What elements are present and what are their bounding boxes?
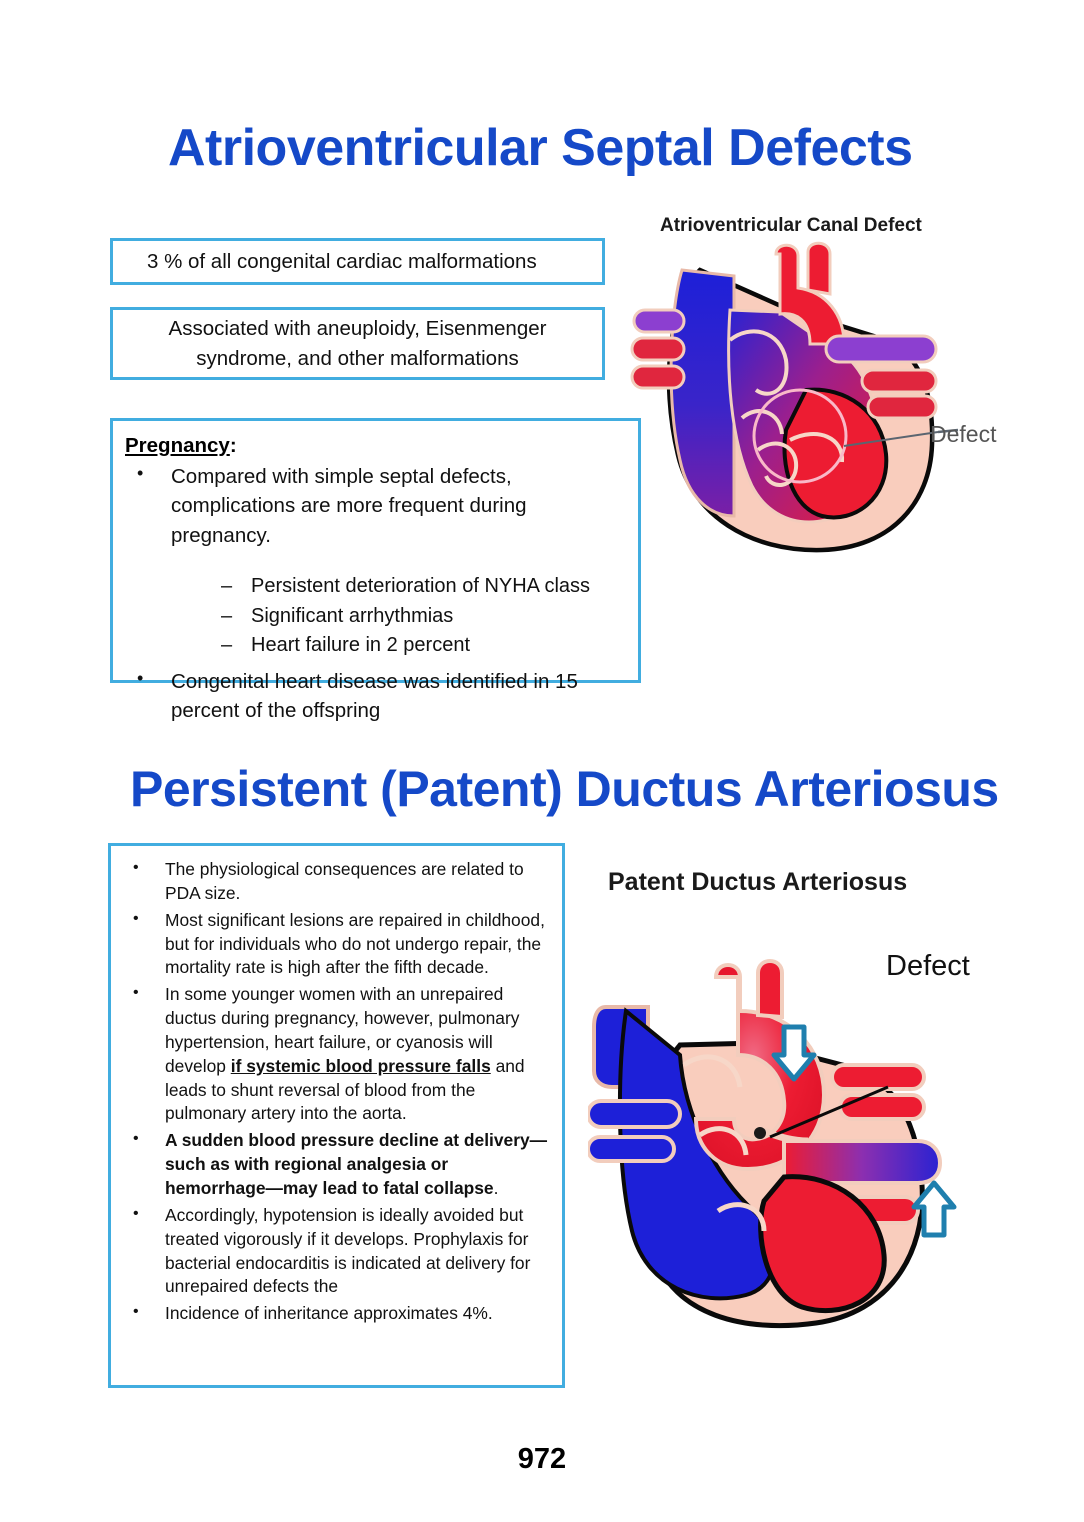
callout-box-pda: The physiological consequences are relat… [108, 843, 565, 1388]
brachiocephalic-trunk [758, 961, 782, 1017]
list-item: Significant arrhythmias [171, 602, 622, 632]
pda-bullet-4-text: A sudden blood pressure decline at deliv… [165, 1130, 547, 1198]
figure-label-avsd-defect: Defect [930, 421, 996, 448]
vessel-stubs-left [632, 310, 684, 388]
pda-bullet-5-text: Accordingly, hypotension is ideally avoi… [165, 1205, 530, 1297]
list-item: A sudden blood pressure decline at deliv… [119, 1129, 550, 1201]
list-item: Accordingly, hypotension is ideally avoi… [119, 1204, 550, 1299]
pregnancy-heading: Pregnancy: [125, 431, 622, 460]
list-item: Heart failure in 2 percent [171, 631, 622, 661]
callout-statistic-text: 3 % of all congenital cardiac malformati… [147, 247, 537, 276]
figure-caption-pda: Patent Ductus Arteriosus [608, 868, 907, 897]
pda-bullet-2-text: Most significant lesions are repaired in… [165, 910, 545, 978]
pregnancy-sub-bullet-2: Significant arrhythmias [251, 605, 453, 627]
pda-bullet-6-text: Incidence of inheritance approximates 4%… [165, 1303, 493, 1323]
figure-label-pda-defect: Defect [886, 950, 970, 983]
list-item: Compared with simple septal defects, com… [125, 462, 622, 661]
list-item: Congenital heart disease was identified … [125, 667, 622, 726]
heart-diagram-avsd [630, 240, 960, 570]
callout-association-line1: Associated with aneuploidy, Eisenmenger [169, 314, 547, 343]
page-title-pda: Persistent (Patent) Ductus Arteriosus [130, 760, 999, 818]
callout-association-line2: syndrome, and other malformations [196, 344, 518, 373]
pregnancy-bullet-list: Compared with simple septal defects, com… [125, 462, 622, 725]
list-item: Most significant lesions are repaired in… [119, 909, 550, 981]
pda-bullet-3-text: In some younger women with an unrepaired… [165, 984, 525, 1123]
pda-bullet-1-text: The physiological consequences are relat… [165, 859, 524, 903]
callout-box-pregnancy: Pregnancy: Compared with simple septal d… [110, 418, 641, 683]
pregnancy-sub-bullet-1: Persistent deterioration of NYHA class [251, 575, 590, 597]
pregnancy-sub-bullet-list: Persistent deterioration of NYHA class S… [171, 572, 622, 661]
ductus-orifice [754, 1127, 766, 1139]
list-item: Persistent deterioration of NYHA class [171, 572, 622, 602]
pda-bullet-list: The physiological consequences are relat… [119, 858, 550, 1326]
pregnancy-bullet-1-text: Compared with simple septal defects, com… [171, 465, 527, 547]
pregnancy-heading-label: Pregnancy [125, 434, 230, 457]
callout-box-association: Associated with aneuploidy, Eisenmenger … [110, 307, 605, 380]
vena-cava-shape [671, 270, 734, 516]
pregnancy-sub-bullet-3: Heart failure in 2 percent [251, 634, 470, 656]
pulmonary-trunk-shape [808, 243, 830, 294]
figure-caption-avsd: Atrioventricular Canal Defect [660, 215, 922, 237]
callout-box-statistic: 3 % of all congenital cardiac malformati… [110, 238, 605, 285]
page-title-avsd: Atrioventricular Septal Defects [168, 118, 913, 178]
list-item: The physiological consequences are relat… [119, 858, 550, 906]
list-item: In some younger women with an unrepaired… [119, 983, 550, 1126]
list-item: Incidence of inheritance approximates 4%… [119, 1302, 550, 1326]
slide-page: Atrioventricular Septal Defects 3 % of a… [0, 0, 1084, 1522]
pregnancy-heading-colon: : [230, 434, 237, 457]
page-number: 972 [0, 1443, 1084, 1476]
pregnancy-bullet-2-text: Congenital heart disease was identified … [171, 670, 578, 722]
